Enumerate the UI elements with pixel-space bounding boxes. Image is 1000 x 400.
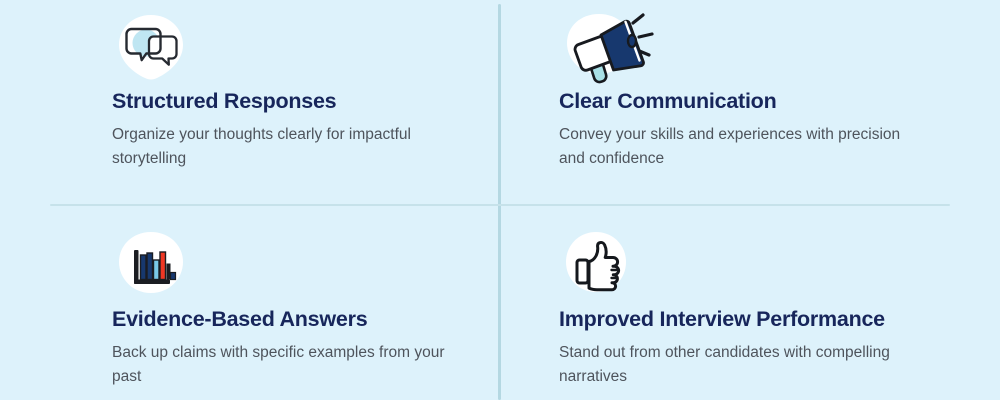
megaphone-icon: [559, 12, 637, 84]
speech-bubbles-icon: [112, 12, 190, 84]
feature-title: Structured Responses: [112, 90, 458, 114]
feature-card-evidence-based-answers: Evidence-Based Answers Back up claims wi…: [0, 206, 498, 400]
feature-description: Convey your skills and experiences with …: [559, 123, 904, 171]
bar-chart-icon: [112, 230, 190, 302]
feature-card-clear-communication: Clear Communication Convey your skills a…: [501, 0, 1000, 204]
feature-description: Stand out from other candidates with com…: [559, 341, 904, 389]
feature-description: Back up claims with specific examples fr…: [112, 341, 452, 389]
feature-grid: Structured Responses Organize your thoug…: [0, 0, 1000, 400]
feature-title: Clear Communication: [559, 90, 970, 114]
feature-title: Improved Interview Performance: [559, 308, 970, 332]
thumbs-up-icon: [559, 230, 637, 302]
feature-description: Organize your thoughts clearly for impac…: [112, 123, 452, 171]
feature-card-structured-responses: Structured Responses Organize your thoug…: [0, 0, 498, 204]
feature-title: Evidence-Based Answers: [112, 308, 458, 332]
feature-card-improved-interview-performance: Improved Interview Performance Stand out…: [501, 206, 1000, 400]
